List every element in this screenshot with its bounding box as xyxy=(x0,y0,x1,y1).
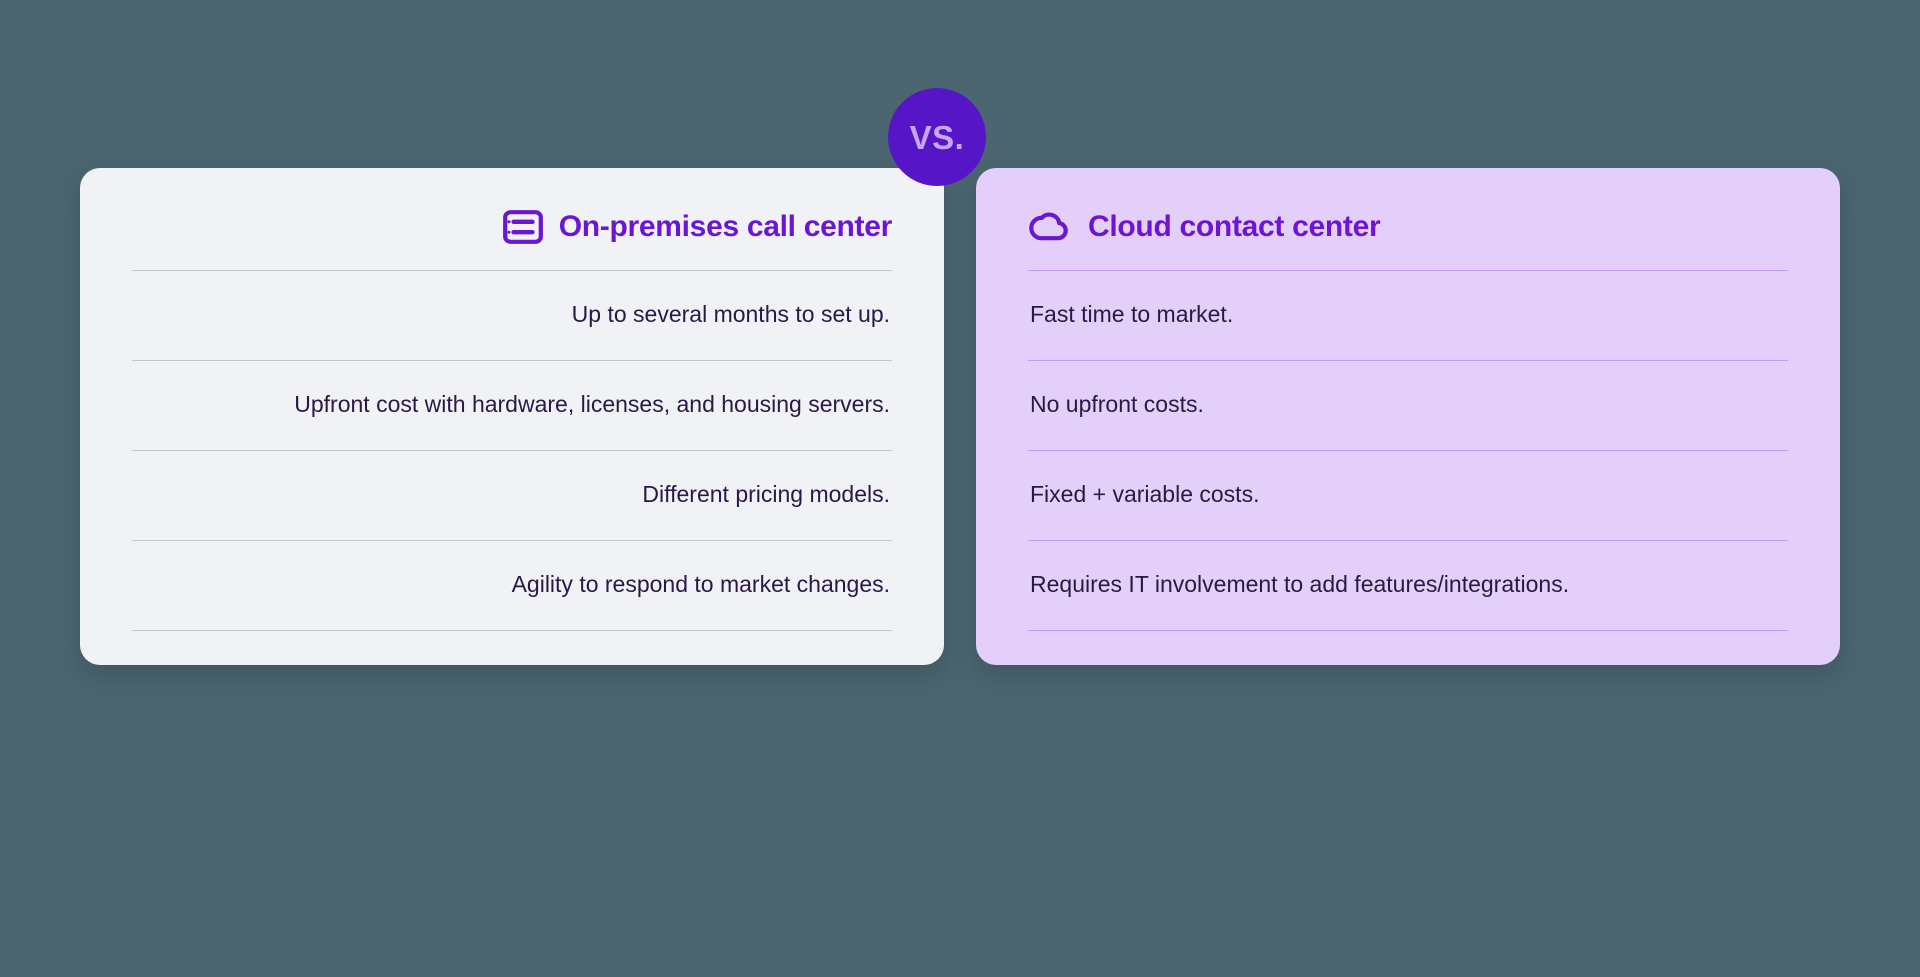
list-item: Different pricing models. xyxy=(132,450,892,540)
vs-badge: VS. xyxy=(888,88,986,186)
list-item: Fixed + variable costs. xyxy=(1028,450,1788,540)
comparison-cards: On-premises call center Up to several mo… xyxy=(80,168,1840,665)
list-item: Fast time to market. xyxy=(1028,270,1788,360)
list-bottom-divider xyxy=(132,630,892,631)
list-item: Up to several months to set up. xyxy=(132,270,892,360)
cloud-icon xyxy=(1028,211,1072,243)
list-bottom-divider xyxy=(1028,630,1788,631)
cloud-row-list: Fast time to market. No upfront costs. F… xyxy=(1028,270,1788,631)
list-item: Upfront cost with hardware, licenses, an… xyxy=(132,360,892,450)
server-rack-icon xyxy=(503,210,543,244)
list-item: Requires IT involvement to add features/… xyxy=(1028,540,1788,630)
cloud-title: Cloud contact center xyxy=(1088,210,1380,244)
on-premises-card-header: On-premises call center xyxy=(132,210,892,270)
on-premises-row-list: Up to several months to set up. Upfront … xyxy=(132,270,892,631)
comparison-infographic: On-premises call center Up to several mo… xyxy=(0,0,1920,977)
list-item: Agility to respond to market changes. xyxy=(132,540,892,630)
cloud-card-header: Cloud contact center xyxy=(1028,210,1788,270)
on-premises-title: On-premises call center xyxy=(559,210,892,244)
on-premises-card: On-premises call center Up to several mo… xyxy=(80,168,944,665)
cloud-card: Cloud contact center Fast time to market… xyxy=(976,168,1840,665)
list-item: No upfront costs. xyxy=(1028,360,1788,450)
vs-badge-label: VS. xyxy=(910,121,965,154)
